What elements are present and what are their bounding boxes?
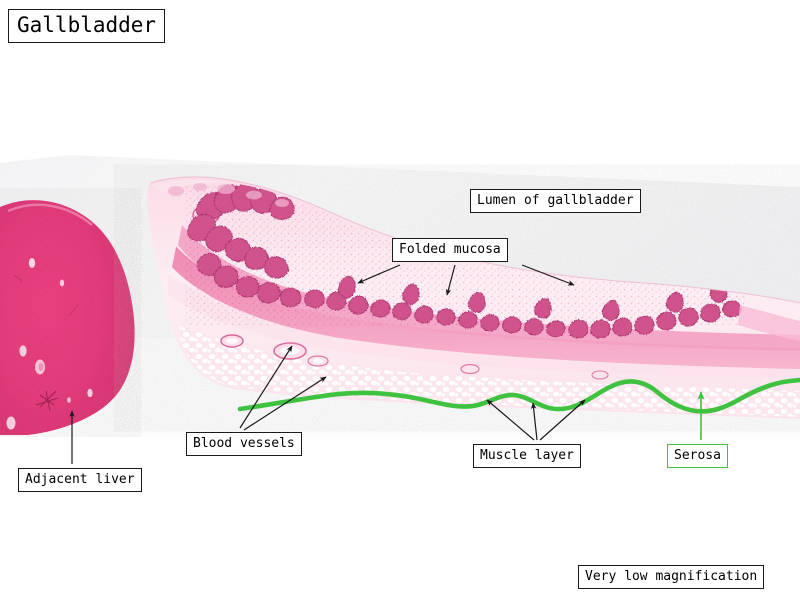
label-adjacent-liver: Adjacent liver bbox=[18, 468, 142, 492]
label-muscle-layer: Muscle layer bbox=[473, 444, 581, 468]
label-magnification: Very low magnification bbox=[578, 565, 764, 589]
label-serosa: Serosa bbox=[667, 444, 728, 468]
gallbladder-histology-image bbox=[0, 155, 800, 437]
label-folded-mucosa: Folded mucosa bbox=[392, 238, 508, 262]
micrograph-slide-region bbox=[0, 155, 800, 437]
page-title: Gallbladder bbox=[8, 9, 165, 43]
label-blood-vessels: Blood vessels bbox=[186, 432, 302, 456]
label-lumen-of-gallbladder: Lumen of gallbladder bbox=[470, 189, 641, 213]
